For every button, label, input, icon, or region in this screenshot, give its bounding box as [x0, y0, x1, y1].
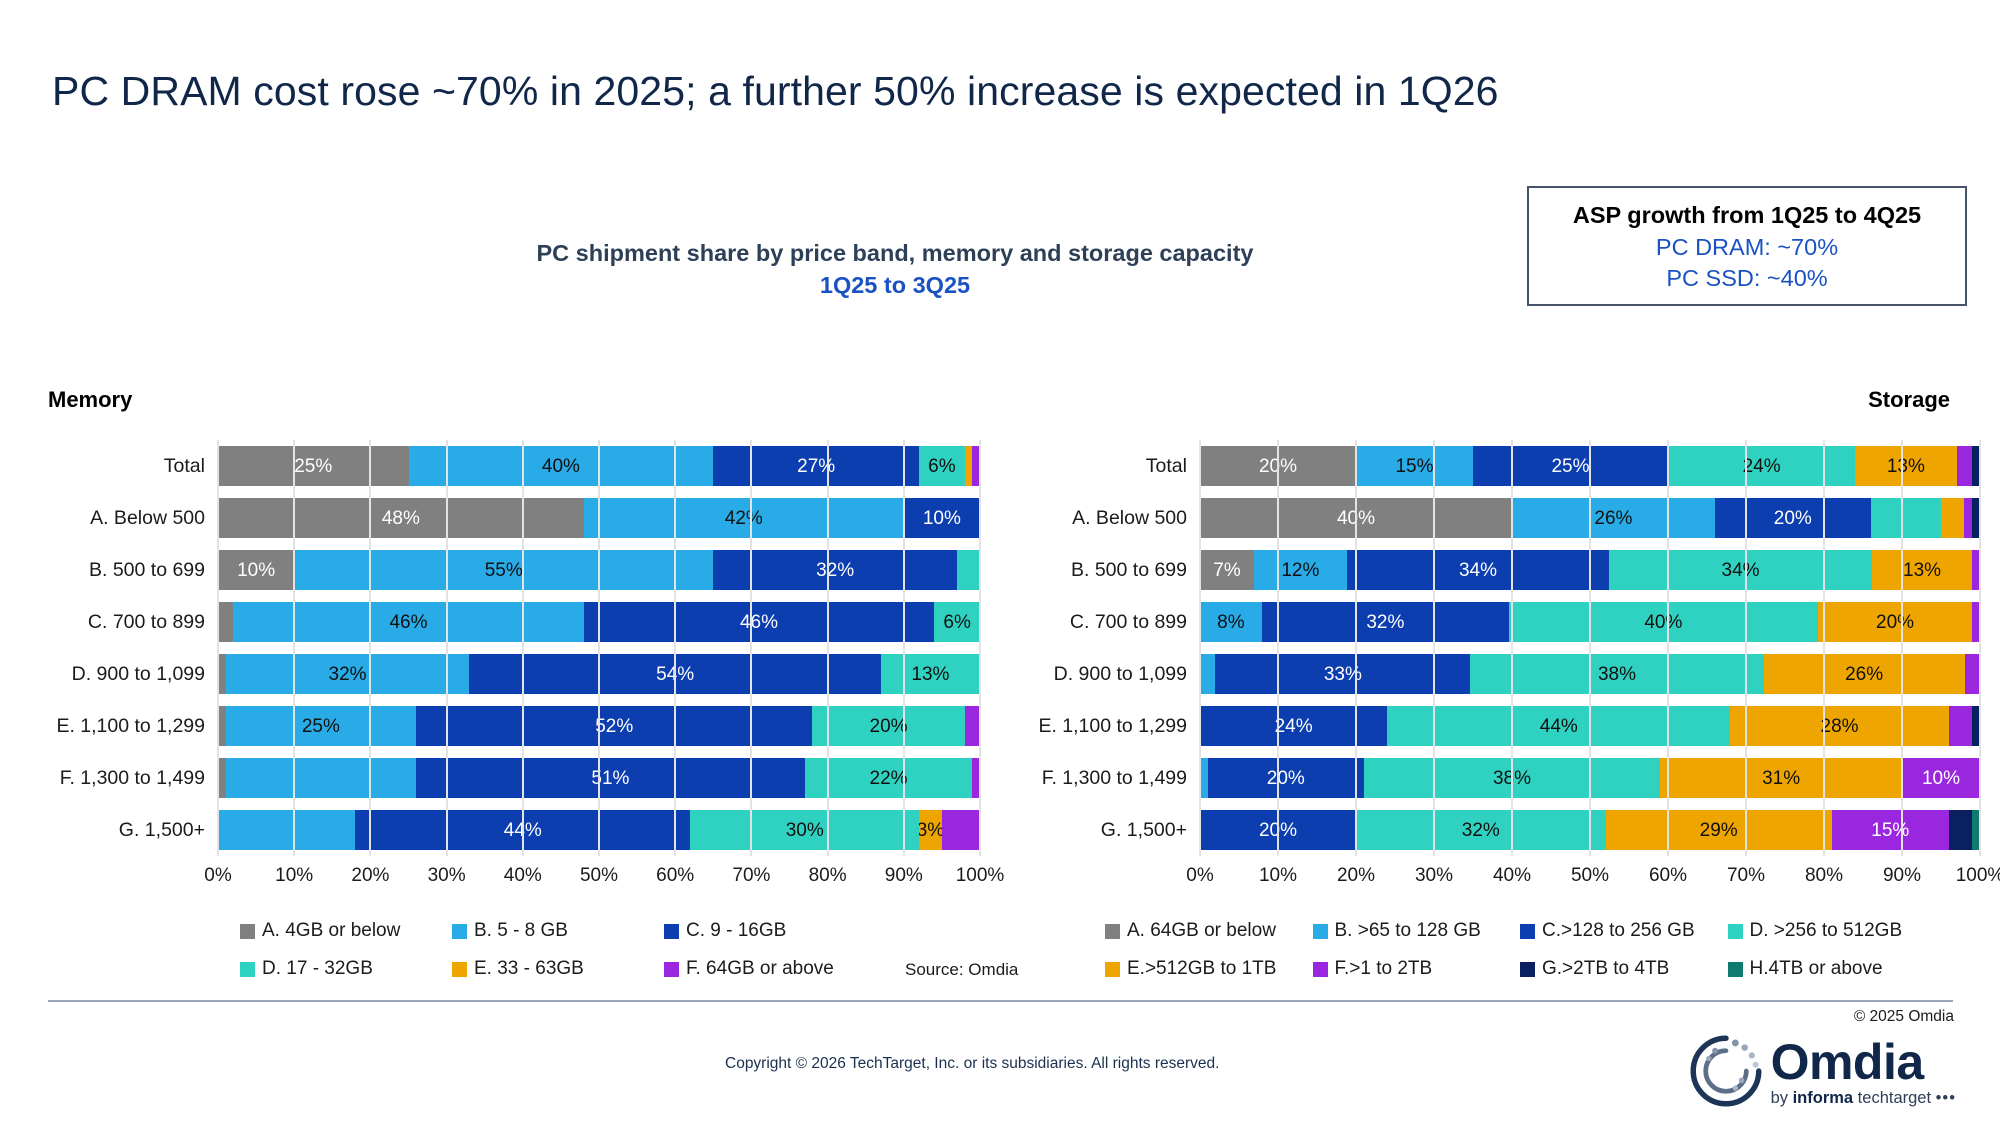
chart-row: C. 700 to 8998%32%40%20% [1010, 596, 1980, 648]
category-label: Total [1010, 455, 1200, 478]
bar-segment [1965, 654, 1980, 694]
omdia-tag-bold: informa [1793, 1089, 1854, 1107]
stacked-bar: 8%32%40%20% [1200, 602, 1980, 642]
asp-callout-dram: PC DRAM: ~70% [1529, 232, 1965, 263]
bar-segment [1871, 498, 1941, 538]
bar-segment [957, 550, 980, 590]
axis-tick-label: 20% [1337, 865, 1375, 887]
bar-segment: 20% [1818, 602, 1972, 642]
axis-tick-label: 10% [1259, 865, 1297, 887]
bar-segment: 42% [584, 498, 904, 538]
legend-swatch-icon [452, 924, 467, 939]
omdia-wordmark: Omdia by informa techtarget ••• [1771, 1039, 1956, 1108]
legend-item[interactable]: C.>128 to 256 GB [1520, 920, 1728, 942]
stacked-bar: 33%38%26% [1200, 654, 1980, 694]
legend-item[interactable]: A. 64GB or below [1105, 920, 1313, 942]
legend-swatch-icon [1313, 924, 1328, 939]
legend-label: G.>2TB to 4TB [1542, 958, 1669, 980]
chart-subtitle: PC shipment share by price band, memory … [430, 238, 1360, 301]
bar-segment: 6% [934, 602, 980, 642]
bar-segment [226, 758, 417, 798]
stacked-bar: 40%26%20% [1200, 498, 1980, 538]
x-axis: 0%10%20%30%40%50%60%70%80%90%100% [20, 859, 980, 891]
category-label: D. 900 to 1,099 [20, 663, 218, 686]
bar-segment: 20% [1200, 810, 1356, 850]
stacked-bar: 25%52%20% [218, 706, 980, 746]
legend-item[interactable]: H.4TB or above [1728, 958, 1936, 980]
omdia-tagline: by informa techtarget ••• [1771, 1089, 1956, 1108]
axis-tick-label: 30% [428, 865, 466, 887]
axis-tick-label: 10% [275, 865, 313, 887]
bar-segment: 20% [1200, 446, 1356, 486]
legend-label: H.4TB or above [1750, 958, 1883, 980]
bar-segment [218, 758, 226, 798]
stacked-bar: 44%30%3% [218, 810, 980, 850]
storage-chart: Total20%15%25%24%13%A. Below 50040%26%20… [1010, 440, 1980, 891]
legend-row: D. 17 - 32GBE. 33 - 63GBF. 64GB or above [240, 958, 880, 980]
legend-swatch-icon [1105, 924, 1120, 939]
axis-tick-label: 40% [504, 865, 542, 887]
chart-row: F. 1,300 to 1,49920%38%31%10% [1010, 752, 1980, 804]
legend-item[interactable]: E. 33 - 63GB [452, 958, 664, 980]
axis-tick-label: 70% [732, 865, 770, 887]
asp-growth-callout: ASP growth from 1Q25 to 4Q25 PC DRAM: ~7… [1527, 186, 1967, 306]
legend-label: F. 64GB or above [686, 958, 834, 980]
bar-segment: 32% [713, 550, 957, 590]
stacked-bar: 46%46%6% [218, 602, 980, 642]
axis-tick-label: 0% [204, 865, 231, 887]
memory-panel-header: Memory [48, 387, 132, 413]
bar-segment: 32% [1262, 602, 1509, 642]
subtitle-line-1: PC shipment share by price band, memory … [430, 238, 1360, 270]
bar-segment: 33% [1215, 654, 1470, 694]
bar-segment: 7% [1200, 550, 1254, 590]
legend-item[interactable]: F.>1 to 2TB [1313, 958, 1521, 980]
bar-segment [1972, 446, 1980, 486]
category-label: G. 1,500+ [1010, 819, 1200, 842]
legend-swatch-icon [1520, 962, 1535, 977]
bar-segment: 26% [1764, 654, 1965, 694]
omdia-logo: Omdia by informa techtarget ••• [1687, 1032, 1956, 1115]
bar-segment [972, 446, 980, 486]
category-label: A. Below 500 [1010, 507, 1200, 530]
stacked-bar: 20%38%31%10% [1200, 758, 1980, 798]
bar-segment: 52% [416, 706, 812, 746]
bar-segment [1972, 706, 1980, 746]
chart-row: A. Below 50040%26%20% [1010, 492, 1980, 544]
chart-row: D. 900 to 1,09933%38%26% [1010, 648, 1980, 700]
stacked-bar: 20%32%29%15% [1200, 810, 1980, 850]
bar-segment: 32% [1356, 810, 1606, 850]
bar-segment [218, 602, 233, 642]
asp-callout-title: ASP growth from 1Q25 to 4Q25 [1529, 199, 1965, 232]
stacked-bar: 20%15%25%24%13% [1200, 446, 1980, 486]
legend-label: E. 33 - 63GB [474, 958, 584, 980]
bar-segment: 10% [1902, 758, 1980, 798]
bar-segment: 34% [1347, 550, 1610, 590]
legend-swatch-icon [1313, 962, 1328, 977]
bar-segment: 51% [416, 758, 805, 798]
bar-segment [1200, 654, 1215, 694]
stacked-bar: 10%55%32% [218, 550, 980, 590]
asp-callout-ssd: PC SSD: ~40% [1529, 263, 1965, 294]
axis-tick-label: 60% [656, 865, 694, 887]
bar-segment [942, 810, 980, 850]
bar-segment: 20% [1208, 758, 1364, 798]
bar-segment: 30% [690, 810, 919, 850]
legend-swatch-icon [664, 924, 679, 939]
bar-segment: 13% [881, 654, 980, 694]
legend-item[interactable]: D. >256 to 512GB [1728, 920, 1936, 942]
legend-item[interactable]: B. >65 to 128 GB [1313, 920, 1521, 942]
bar-segment: 25% [218, 446, 409, 486]
category-label: E. 1,100 to 1,299 [20, 715, 218, 738]
category-label: D. 900 to 1,099 [1010, 663, 1200, 686]
omdia-copyright: © 2025 Omdia [1854, 1008, 1954, 1026]
bar-segment [1941, 498, 1964, 538]
legend-item[interactable]: F. 64GB or above [664, 958, 876, 980]
axis-tick-label: 50% [580, 865, 618, 887]
storage-panel-header: Storage [1868, 387, 1950, 413]
bar-segment [218, 706, 226, 746]
bar-segment [1200, 758, 1208, 798]
chart-row: Total20%15%25%24%13% [1010, 440, 1980, 492]
axis-tick-label: 40% [1493, 865, 1531, 887]
bar-segment: 32% [226, 654, 470, 694]
chart-row: F. 1,300 to 1,49951%22% [20, 752, 980, 804]
legend-swatch-icon [240, 962, 255, 977]
omdia-tag-prefix: by [1771, 1089, 1793, 1107]
legend-item[interactable]: D. 17 - 32GB [240, 958, 452, 980]
axis-tick-label: 80% [1805, 865, 1843, 887]
legend-label: D. 17 - 32GB [262, 958, 373, 980]
page-title: PC DRAM cost rose ~70% in 2025; a furthe… [52, 68, 1499, 115]
category-label: G. 1,500+ [20, 819, 218, 842]
legend-label: B. 5 - 8 GB [474, 920, 568, 942]
bar-segment: 15% [1832, 810, 1949, 850]
bar-segment [1949, 810, 1972, 850]
category-label: F. 1,300 to 1,499 [1010, 767, 1200, 790]
bar-segment: 40% [1200, 498, 1512, 538]
legend-swatch-icon [240, 924, 255, 939]
bar-segment: 13% [1872, 550, 1972, 590]
bar-segment: 55% [294, 550, 713, 590]
bar-segment: 26% [1512, 498, 1715, 538]
bar-segment [972, 758, 980, 798]
legend-item[interactable]: C. 9 - 16GB [664, 920, 876, 942]
bar-segment: 20% [812, 706, 964, 746]
bar-segment [1972, 498, 1980, 538]
bar-segment [218, 810, 355, 850]
memory-chart: Total25%40%27%6%A. Below 50048%42%10%B. … [20, 440, 980, 891]
bar-segment: 3% [919, 810, 942, 850]
category-label: E. 1,100 to 1,299 [1010, 715, 1200, 738]
source-note: Source: Omdia [905, 960, 1018, 980]
legend-item[interactable]: G.>2TB to 4TB [1520, 958, 1728, 980]
legend-swatch-icon [1728, 962, 1743, 977]
axis-tick-label: 100% [956, 865, 1005, 887]
category-label: B. 500 to 699 [1010, 559, 1200, 582]
legend-item[interactable]: B. 5 - 8 GB [452, 920, 664, 942]
category-label: B. 500 to 699 [20, 559, 218, 582]
legend-item[interactable]: E.>512GB to 1TB [1105, 958, 1313, 980]
stacked-bar: 32%54%13% [218, 654, 980, 694]
bar-segment: 20% [1715, 498, 1871, 538]
bar-segment: 54% [469, 654, 880, 694]
category-label: F. 1,300 to 1,499 [20, 767, 218, 790]
bar-segment: 25% [1473, 446, 1668, 486]
bar-segment: 44% [355, 810, 690, 850]
category-label: C. 700 to 899 [1010, 611, 1200, 634]
axis-tick-label: 50% [1571, 865, 1609, 887]
legend-label: E.>512GB to 1TB [1127, 958, 1276, 980]
bar-segment: 34% [1609, 550, 1872, 590]
bar-segment [1949, 706, 1972, 746]
bar-segment: 29% [1606, 810, 1832, 850]
copyright-text: Copyright © 2026 TechTarget, Inc. or its… [725, 1055, 1219, 1073]
axis-tick-label: 70% [1727, 865, 1765, 887]
legend-row: A. 64GB or belowB. >65 to 128 GBC.>128 t… [1105, 920, 1935, 942]
bar-segment: 46% [584, 602, 935, 642]
footer-divider [48, 1000, 1953, 1002]
omdia-dots-icon: ••• [1936, 1089, 1956, 1107]
legend-label: C. 9 - 16GB [686, 920, 786, 942]
legend-label: A. 64GB or below [1127, 920, 1276, 942]
bar-segment: 46% [233, 602, 584, 642]
omdia-mark-icon [1687, 1032, 1765, 1115]
legend-swatch-icon [1520, 924, 1535, 939]
bar-segment: 24% [1668, 446, 1855, 486]
axis-tick-label: 90% [885, 865, 923, 887]
legend-label: F.>1 to 2TB [1335, 958, 1433, 980]
stacked-bar: 48%42%10% [218, 498, 980, 538]
legend-label: B. >65 to 128 GB [1335, 920, 1481, 942]
subtitle-line-2: 1Q25 to 3Q25 [430, 270, 1360, 302]
bar-segment: 38% [1364, 758, 1660, 798]
stacked-bar: 25%40%27%6% [218, 446, 980, 486]
category-label: A. Below 500 [20, 507, 218, 530]
memory-legend: A. 4GB or belowB. 5 - 8 GBC. 9 - 16GBD. … [240, 920, 880, 996]
bar-segment: 10% [218, 550, 294, 590]
chart-row: B. 500 to 69910%55%32% [20, 544, 980, 596]
slide: PC DRAM cost rose ~70% in 2025; a furthe… [0, 0, 2000, 1125]
chart-row: G. 1,500+44%30%3% [20, 804, 980, 856]
legend-row: E.>512GB to 1TBF.>1 to 2TBG.>2TB to 4TBH… [1105, 958, 1935, 980]
stacked-bar: 7%12%34%34%13% [1200, 550, 1980, 590]
bar-segment: 12% [1254, 550, 1347, 590]
bar-segment: 40% [409, 446, 714, 486]
storage-legend: A. 64GB or belowB. >65 to 128 GBC.>128 t… [1105, 920, 1935, 996]
legend-swatch-icon [1728, 924, 1743, 939]
axis-tick-label: 90% [1883, 865, 1921, 887]
chart-row: D. 900 to 1,09932%54%13% [20, 648, 980, 700]
category-label: Total [20, 455, 218, 478]
bar-segment [1957, 446, 1973, 486]
bar-segment [1972, 810, 1980, 850]
bar-segment: 8% [1200, 602, 1262, 642]
legend-label: A. 4GB or below [262, 920, 400, 942]
bar-segment: 31% [1660, 758, 1902, 798]
chart-row: Total25%40%27%6% [20, 440, 980, 492]
legend-row: A. 4GB or belowB. 5 - 8 GBC. 9 - 16GB [240, 920, 880, 942]
axis-tick-label: 20% [351, 865, 389, 887]
bar-segment: 10% [904, 498, 980, 538]
bar-segment [218, 654, 226, 694]
bar-segment: 22% [805, 758, 973, 798]
stacked-bar: 24%44%28% [1200, 706, 1980, 746]
axis-tick-label: 60% [1649, 865, 1687, 887]
bar-segment: 27% [713, 446, 919, 486]
bar-segment: 40% [1509, 602, 1818, 642]
chart-row: B. 500 to 6997%12%34%34%13% [1010, 544, 1980, 596]
chart-row: A. Below 50048%42%10% [20, 492, 980, 544]
legend-label: C.>128 to 256 GB [1542, 920, 1695, 942]
bar-segment: 24% [1200, 706, 1387, 746]
legend-swatch-icon [664, 962, 679, 977]
axis-tick-label: 100% [1956, 865, 2000, 887]
bar-segment: 6% [919, 446, 965, 486]
category-label: C. 700 to 899 [20, 611, 218, 634]
bar-segment [1972, 602, 1980, 642]
legend-label: D. >256 to 512GB [1750, 920, 1903, 942]
chart-row: E. 1,100 to 1,29924%44%28% [1010, 700, 1980, 752]
x-axis: 0%10%20%30%40%50%60%70%80%90%100% [1010, 859, 1980, 891]
stacked-bar: 51%22% [218, 758, 980, 798]
axis-tick-label: 80% [809, 865, 847, 887]
bar-segment: 44% [1387, 706, 1730, 746]
bar-segment: 13% [1855, 446, 1956, 486]
bar-segment [1972, 550, 1980, 590]
bar-segment: 48% [218, 498, 584, 538]
bar-segment: 15% [1356, 446, 1473, 486]
axis-tick-label: 0% [1186, 865, 1213, 887]
legend-swatch-icon [1105, 962, 1120, 977]
bar-segment: 38% [1470, 654, 1763, 694]
omdia-name: Omdia [1771, 1039, 1956, 1087]
chart-row: C. 700 to 89946%46%6% [20, 596, 980, 648]
chart-row: G. 1,500+20%32%29%15% [1010, 804, 1980, 856]
legend-item[interactable]: A. 4GB or below [240, 920, 452, 942]
omdia-tag-rest: techtarget [1853, 1089, 1931, 1107]
axis-tick-label: 30% [1415, 865, 1453, 887]
bar-segment: 25% [226, 706, 417, 746]
legend-swatch-icon [452, 962, 467, 977]
bar-segment: 28% [1730, 706, 1948, 746]
bar-segment [965, 446, 973, 486]
chart-row: E. 1,100 to 1,29925%52%20% [20, 700, 980, 752]
bar-segment [965, 706, 980, 746]
bar-segment [1964, 498, 1972, 538]
